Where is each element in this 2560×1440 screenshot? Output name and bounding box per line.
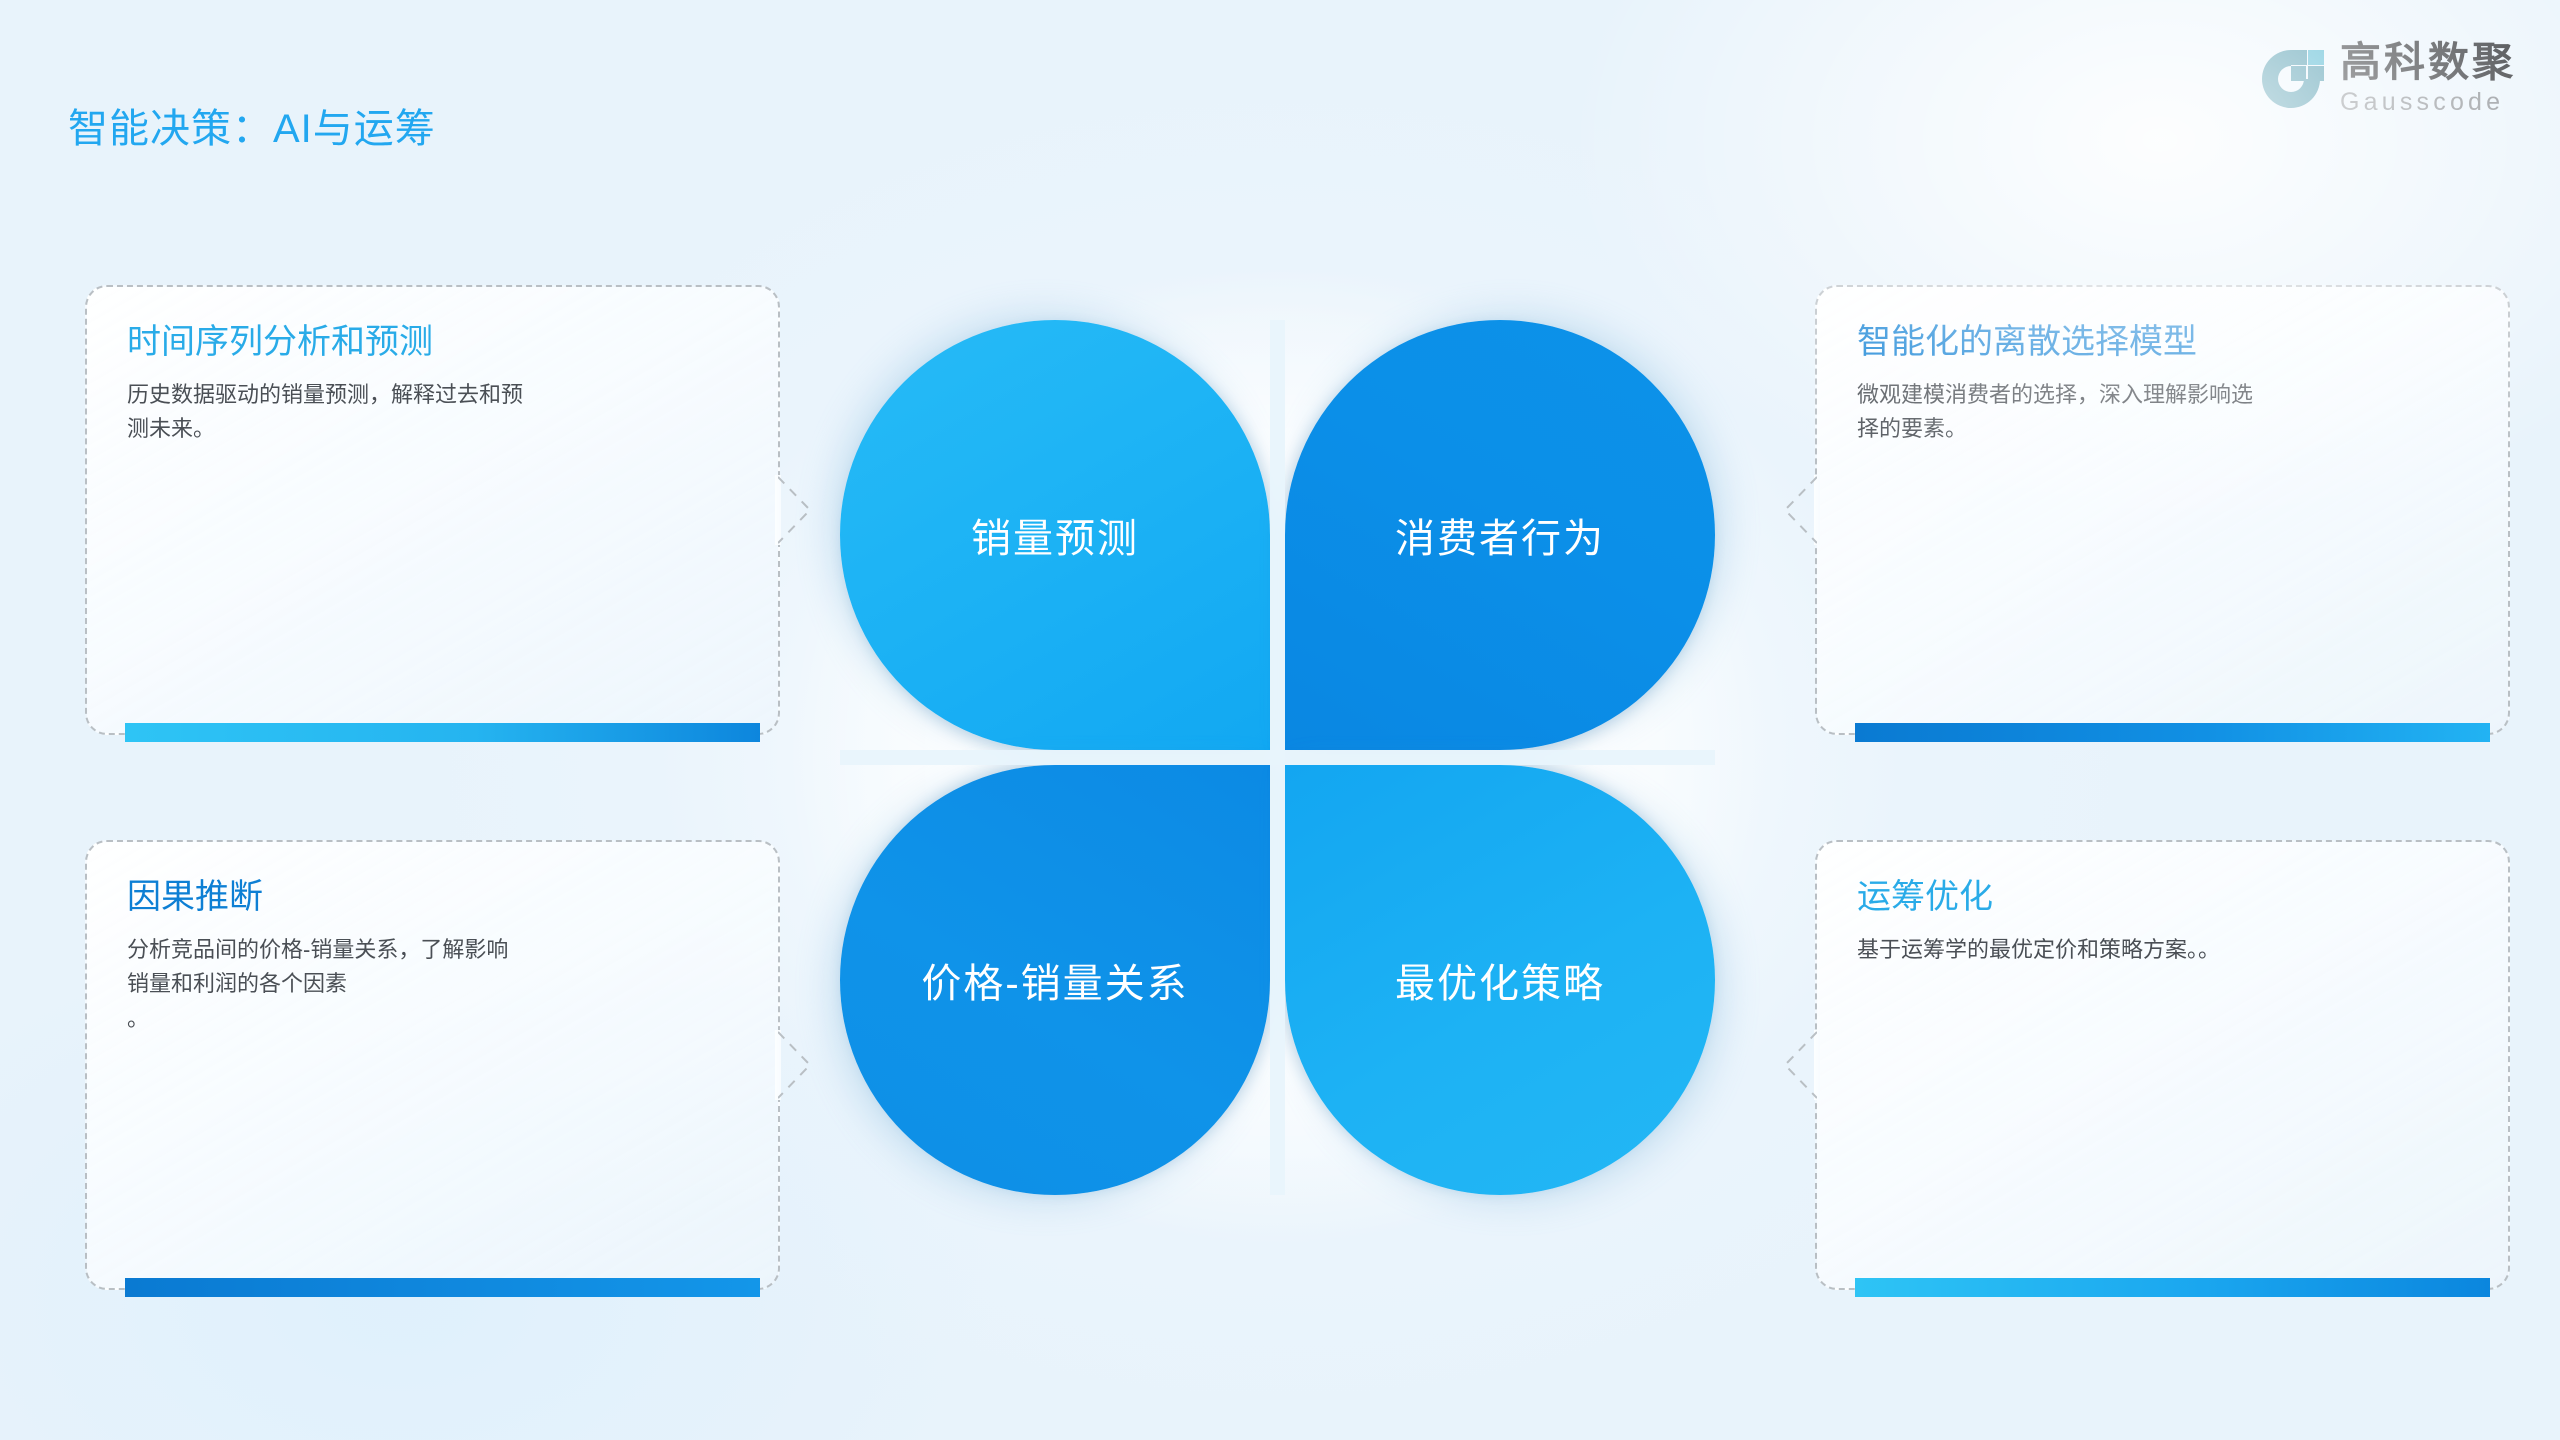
card-description: 分析竞品间的价格-销量关系，了解影响 销量和利润的各个因素 。: [127, 933, 738, 1037]
card-title: 时间序列分析和预测: [127, 321, 738, 364]
connector-chevron-left-icon: [1783, 473, 1817, 547]
petal-sales-forecast[interactable]: 销量预测: [840, 320, 1270, 750]
petal-label: 消费者行为: [1395, 506, 1605, 564]
info-card-bottom-right[interactable]: 运筹优化 基于运筹学的最优定价和策略方案。。: [1815, 840, 2510, 1290]
petal-consumer-behavior[interactable]: 消费者行为: [1285, 320, 1715, 750]
petal-price-sales-relation[interactable]: 价格-销量关系: [840, 765, 1270, 1195]
connector-gap: [1814, 475, 1820, 545]
connector-chevron-right-icon: [778, 1028, 812, 1102]
petal-label: 最优化策略: [1395, 951, 1605, 1009]
logo-wordmark: 高科数聚 Gausscode: [2340, 42, 2516, 115]
card-description: 历史数据驱动的销量预测，解释过去和预 测未来。: [127, 378, 738, 448]
card-title: 运筹优化: [1857, 876, 2468, 919]
card-description: 微观建模消费者的选择，深入理解影响选 择的要素。: [1857, 378, 2468, 448]
petal-label: 销量预测: [971, 506, 1139, 564]
gausscode-logo-icon: [2258, 46, 2324, 112]
card-title: 因果推断: [127, 876, 738, 919]
slide-canvas: 智能决策：AI与运筹 高科数聚 Gausscode 时间序列分析和预测 历史数据…: [0, 0, 2560, 1440]
connector-chevron-left-icon: [1783, 1028, 1817, 1102]
info-card-top-right[interactable]: 智能化的离散选择模型 微观建模消费者的选择，深入理解影响选 择的要素。: [1815, 285, 2510, 735]
petal-label: 价格-销量关系: [921, 951, 1188, 1009]
info-card-top-left[interactable]: 时间序列分析和预测 历史数据驱动的销量预测，解释过去和预 测未来。: [85, 285, 780, 735]
connector-gap: [775, 1030, 781, 1100]
flower-diagram: 销量预测 消费者行为 价格-销量关系 最优化策略: [840, 320, 1715, 1195]
info-card-bottom-left[interactable]: 因果推断 分析竞品间的价格-销量关系，了解影响 销量和利润的各个因素 。: [85, 840, 780, 1290]
card-description: 基于运筹学的最优定价和策略方案。。: [1857, 933, 2468, 968]
connector-gap: [1814, 1030, 1820, 1100]
logo-name-cn: 高科数聚: [2340, 42, 2516, 83]
card-accent-bar: [1855, 723, 2490, 742]
petal-seam-horizontal: [840, 750, 1715, 765]
connector-chevron-right-icon: [778, 473, 812, 547]
connector-gap: [775, 475, 781, 545]
card-accent-bar: [125, 1278, 760, 1297]
page-title: 智能决策：AI与运筹: [68, 96, 436, 154]
card-accent-bar: [125, 723, 760, 742]
logo-name-en: Gausscode: [2340, 90, 2516, 115]
card-title: 智能化的离散选择模型: [1857, 321, 2468, 364]
petal-seam-vertical: [1270, 320, 1285, 1195]
petal-optimization-strategy[interactable]: 最优化策略: [1285, 765, 1715, 1195]
card-accent-bar: [1855, 1278, 2490, 1297]
brand-logo: 高科数聚 Gausscode: [2258, 42, 2516, 115]
